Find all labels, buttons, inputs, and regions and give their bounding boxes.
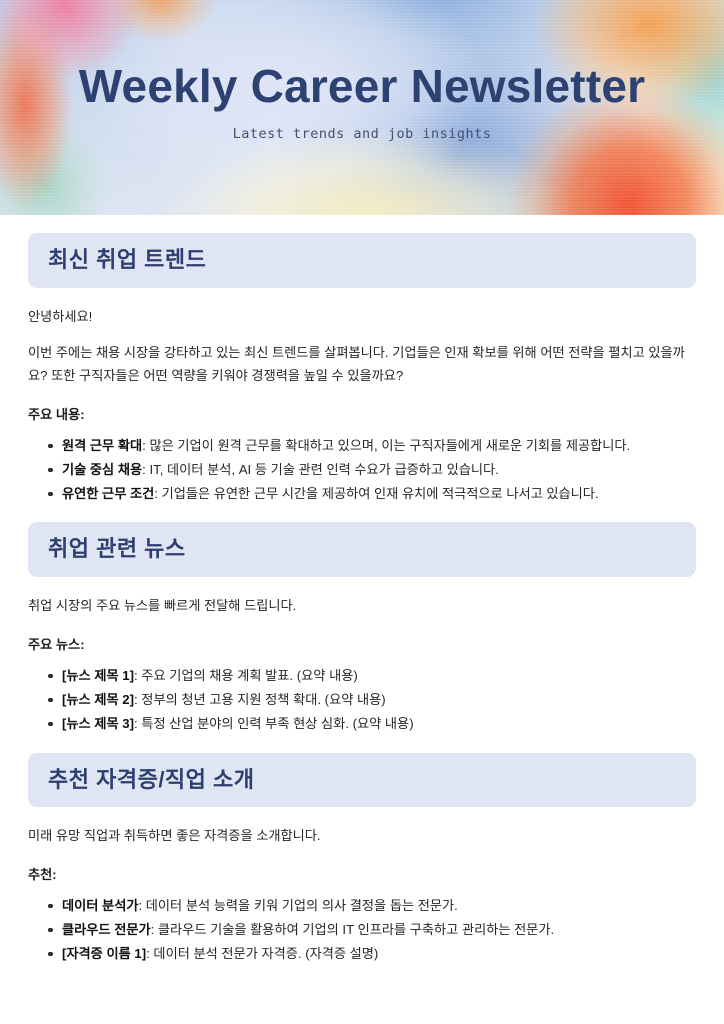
section-job-news: 취업 관련 뉴스 취업 시장의 주요 뉴스를 빠르게 전달해 드립니다. 주요 … — [28, 522, 696, 734]
section-recommended-certifications: 추천 자격증/직업 소개 미래 유망 직업과 취득하면 좋은 자격증을 소개합니… — [28, 753, 696, 965]
list-item: 유연한 근무 조건: 기업들은 유연한 근무 시간을 제공하여 인재 유치에 적… — [62, 483, 696, 505]
list-item-lead: 유연한 근무 조건 — [62, 486, 154, 501]
list-item-text: : 기업들은 유연한 근무 시간을 제공하여 인재 유치에 적극적으로 나서고 … — [154, 486, 598, 501]
list-item-text: : 많은 기업이 원격 근무를 확대하고 있으며, 이는 구직자들에게 새로운 … — [142, 438, 630, 453]
list-item-lead: 클라우드 전문가 — [62, 922, 151, 937]
greeting-text: 안녕하세요! — [28, 306, 696, 329]
list-item: 클라우드 전문가: 클라우드 기술을 활용하여 기업의 IT 인프라를 구축하고… — [62, 919, 696, 941]
list-item: [뉴스 제목 1]: 주요 기업의 채용 계획 발표. (요약 내용) — [62, 665, 696, 687]
section-intro-1: 이번 주에는 채용 시장을 강타하고 있는 최신 트렌드를 살펴봅니다. 기업들… — [28, 342, 696, 387]
section-banner-3: 추천 자격증/직업 소개 — [28, 753, 696, 808]
list-item: [뉴스 제목 2]: 정부의 청년 고용 지원 정책 확대. (요약 내용) — [62, 689, 696, 711]
bullet-list-1: 원격 근무 확대: 많은 기업이 원격 근무를 확대하고 있으며, 이는 구직자… — [28, 435, 696, 505]
section-latest-job-trends: 최신 취업 트렌드 안녕하세요! 이번 주에는 채용 시장을 강타하고 있는 최… — [28, 233, 696, 504]
list-item-lead: [뉴스 제목 2] — [62, 692, 134, 707]
list-item-text: : 데이터 분석 전문가 자격증. (자격증 설명) — [146, 946, 378, 961]
bullet-list-2: [뉴스 제목 1]: 주요 기업의 채용 계획 발표. (요약 내용) [뉴스 … — [28, 665, 696, 735]
newsletter-subtitle: Latest trends and job insights — [0, 126, 724, 142]
section-title-1: 최신 취업 트렌드 — [48, 246, 676, 274]
list-label-2: 주요 뉴스: — [28, 634, 696, 655]
list-item-text: : 주요 기업의 채용 계획 발표. (요약 내용) — [134, 668, 358, 683]
list-label-1: 주요 내용: — [28, 404, 696, 425]
newsletter-title: Weekly Career Newsletter — [0, 62, 724, 110]
newsletter-body: 최신 취업 트렌드 안녕하세요! 이번 주에는 채용 시장을 강타하고 있는 최… — [0, 233, 724, 965]
list-item-lead: 데이터 분석가 — [62, 898, 138, 913]
list-item-lead: [뉴스 제목 1] — [62, 668, 134, 683]
newsletter-hero-header: Weekly Career Newsletter Latest trends a… — [0, 0, 724, 215]
list-item-lead: [자격증 이름 1] — [62, 946, 146, 961]
section-title-3: 추천 자격증/직업 소개 — [48, 766, 676, 794]
list-item-text: : 특정 산업 분야의 인력 부족 현상 심화. (요약 내용) — [134, 716, 414, 731]
section-banner-1: 최신 취업 트렌드 — [28, 233, 696, 288]
list-item-text: : 데이터 분석 능력을 키워 기업의 의사 결정을 돕는 전문가. — [138, 898, 457, 913]
list-item-lead: 원격 근무 확대 — [62, 438, 142, 453]
list-item-lead: 기술 중심 채용 — [62, 462, 142, 477]
list-item: 데이터 분석가: 데이터 분석 능력을 키워 기업의 의사 결정을 돕는 전문가… — [62, 895, 696, 917]
hero-text-block: Weekly Career Newsletter Latest trends a… — [0, 0, 724, 142]
section-title-2: 취업 관련 뉴스 — [48, 535, 676, 563]
list-item-text: : 정부의 청년 고용 지원 정책 확대. (요약 내용) — [134, 692, 386, 707]
list-item: [뉴스 제목 3]: 특정 산업 분야의 인력 부족 현상 심화. (요약 내용… — [62, 713, 696, 735]
bullet-list-3: 데이터 분석가: 데이터 분석 능력을 키워 기업의 의사 결정을 돕는 전문가… — [28, 895, 696, 965]
list-label-3: 추천: — [28, 864, 696, 885]
section-intro-2: 취업 시장의 주요 뉴스를 빠르게 전달해 드립니다. — [28, 595, 696, 618]
list-item: 기술 중심 채용: IT, 데이터 분석, AI 등 기술 관련 인력 수요가 … — [62, 459, 696, 481]
list-item: [자격증 이름 1]: 데이터 분석 전문가 자격증. (자격증 설명) — [62, 943, 696, 965]
section-intro-3: 미래 유망 직업과 취득하면 좋은 자격증을 소개합니다. — [28, 825, 696, 848]
section-banner-2: 취업 관련 뉴스 — [28, 522, 696, 577]
list-item-text: : 클라우드 기술을 활용하여 기업의 IT 인프라를 구축하고 관리하는 전문… — [151, 922, 555, 937]
list-item: 원격 근무 확대: 많은 기업이 원격 근무를 확대하고 있으며, 이는 구직자… — [62, 435, 696, 457]
list-item-text: : IT, 데이터 분석, AI 등 기술 관련 인력 수요가 급증하고 있습니… — [142, 462, 499, 477]
list-item-lead: [뉴스 제목 3] — [62, 716, 134, 731]
